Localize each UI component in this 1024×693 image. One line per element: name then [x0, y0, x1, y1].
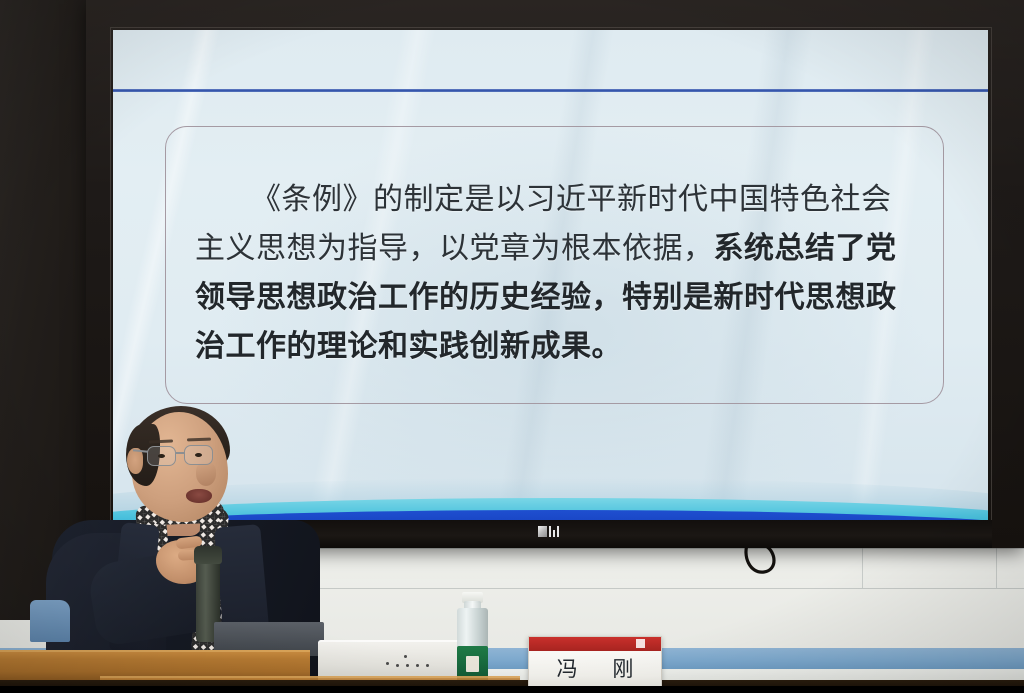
podium-led [406, 664, 409, 667]
microphone-head [194, 546, 222, 564]
letterbox-bottom [0, 686, 1024, 693]
name-plate-emblem-icon [636, 639, 645, 648]
glasses-bridge [176, 452, 185, 454]
podium-led [426, 664, 429, 667]
podium-led [416, 664, 419, 667]
podium-led [396, 664, 399, 667]
podium-led [404, 655, 407, 658]
podium-led [386, 662, 389, 665]
lecturer-nose [196, 462, 216, 486]
lecturer-eye-left [158, 454, 165, 458]
name-plate-name: 冯 刚 [529, 653, 661, 683]
lecturer-eye-right [195, 453, 202, 457]
lecturer-ear [127, 448, 143, 474]
bottle-label-stripe [466, 656, 479, 672]
lecturer-mouth [186, 489, 212, 503]
lecturer [0, 0, 1024, 693]
name-plate-header [529, 637, 661, 651]
name-plate: 冯 刚 [528, 636, 662, 693]
photo-scene: 《条例》的制定是以习近平新时代中国特色社会主义思想为指导，以党章为根本依据，系统… [0, 0, 1024, 693]
chair [30, 600, 70, 642]
